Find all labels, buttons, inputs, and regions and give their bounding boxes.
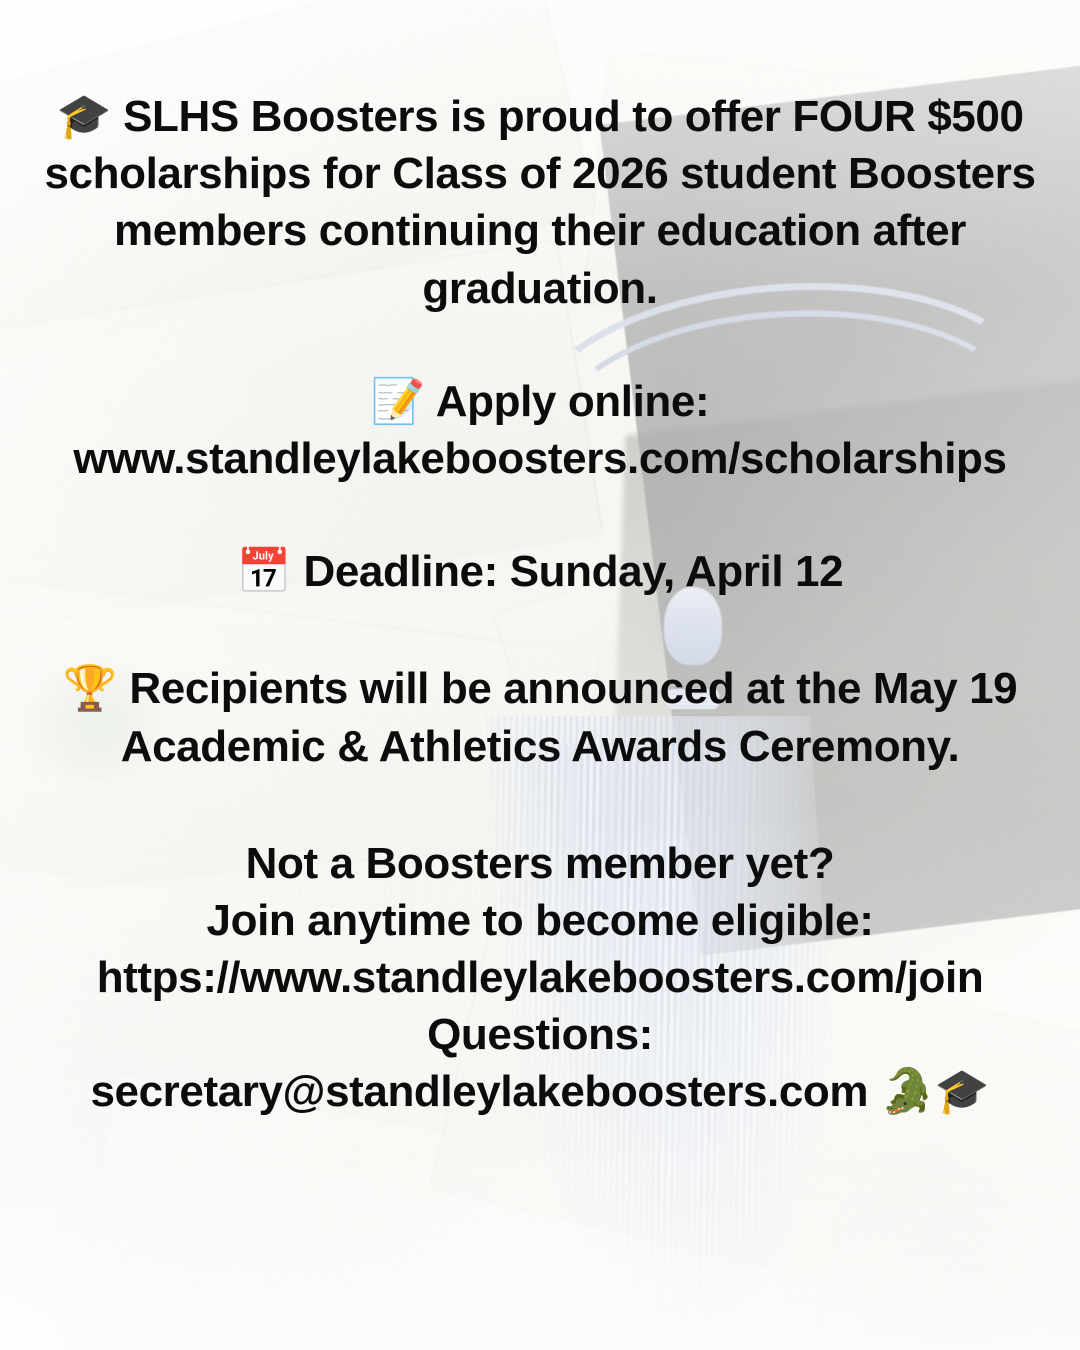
poster-text-content: 🎓 SLHS Boosters is proud to offer FOUR $… — [0, 0, 1080, 1350]
membership-invite: Join anytime to become eligible: — [207, 896, 874, 945]
section-gap — [14, 775, 1066, 835]
membership-question: Not a Boosters member yet? — [246, 839, 835, 888]
recipients-paragraph: 🏆 Recipients will be announced at the Ma… — [14, 660, 1066, 774]
questions-label: Questions: — [427, 1010, 653, 1059]
offer-paragraph: 🎓 SLHS Boosters is proud to offer FOUR $… — [14, 88, 1066, 317]
join-url-link[interactable]: https://www.standleylakeboosters.com/joi… — [97, 953, 984, 1002]
section-gap — [14, 317, 1066, 373]
calendar-icon: 📅 — [237, 546, 292, 597]
offer-text: SLHS Boosters is proud to offer FOUR $50… — [44, 92, 1035, 313]
graduation-cap-icon: 🎓 — [56, 91, 111, 142]
trophy-icon: 🏆 — [63, 663, 118, 714]
apply-paragraph: 📝 Apply online:www.standleylakeboosters.… — [14, 373, 1066, 487]
apply-label: Apply online: — [436, 377, 709, 426]
membership-paragraph: Not a Boosters member yet?Join anytime t… — [14, 835, 1066, 1121]
graduation-cap-icon: 🎓 — [935, 1066, 990, 1117]
contact-email-link[interactable]: secretary@standleylakeboosters.com — [90, 1067, 868, 1116]
deadline-paragraph: 📅 Deadline: Sunday, April 12 — [14, 543, 1066, 600]
recipients-text: Recipients will be announced at the May … — [121, 664, 1018, 770]
apply-url-link[interactable]: www.standleylakeboosters.com/scholarship… — [73, 434, 1006, 483]
section-gap — [14, 487, 1066, 543]
crocodile-icon: 🐊 — [880, 1066, 935, 1117]
deadline-text: Deadline: Sunday, April 12 — [303, 547, 843, 596]
memo-icon: 📝 — [371, 376, 426, 427]
section-gap — [14, 600, 1066, 660]
scholarship-announcement-poster: 🎓 SLHS Boosters is proud to offer FOUR $… — [0, 0, 1080, 1350]
